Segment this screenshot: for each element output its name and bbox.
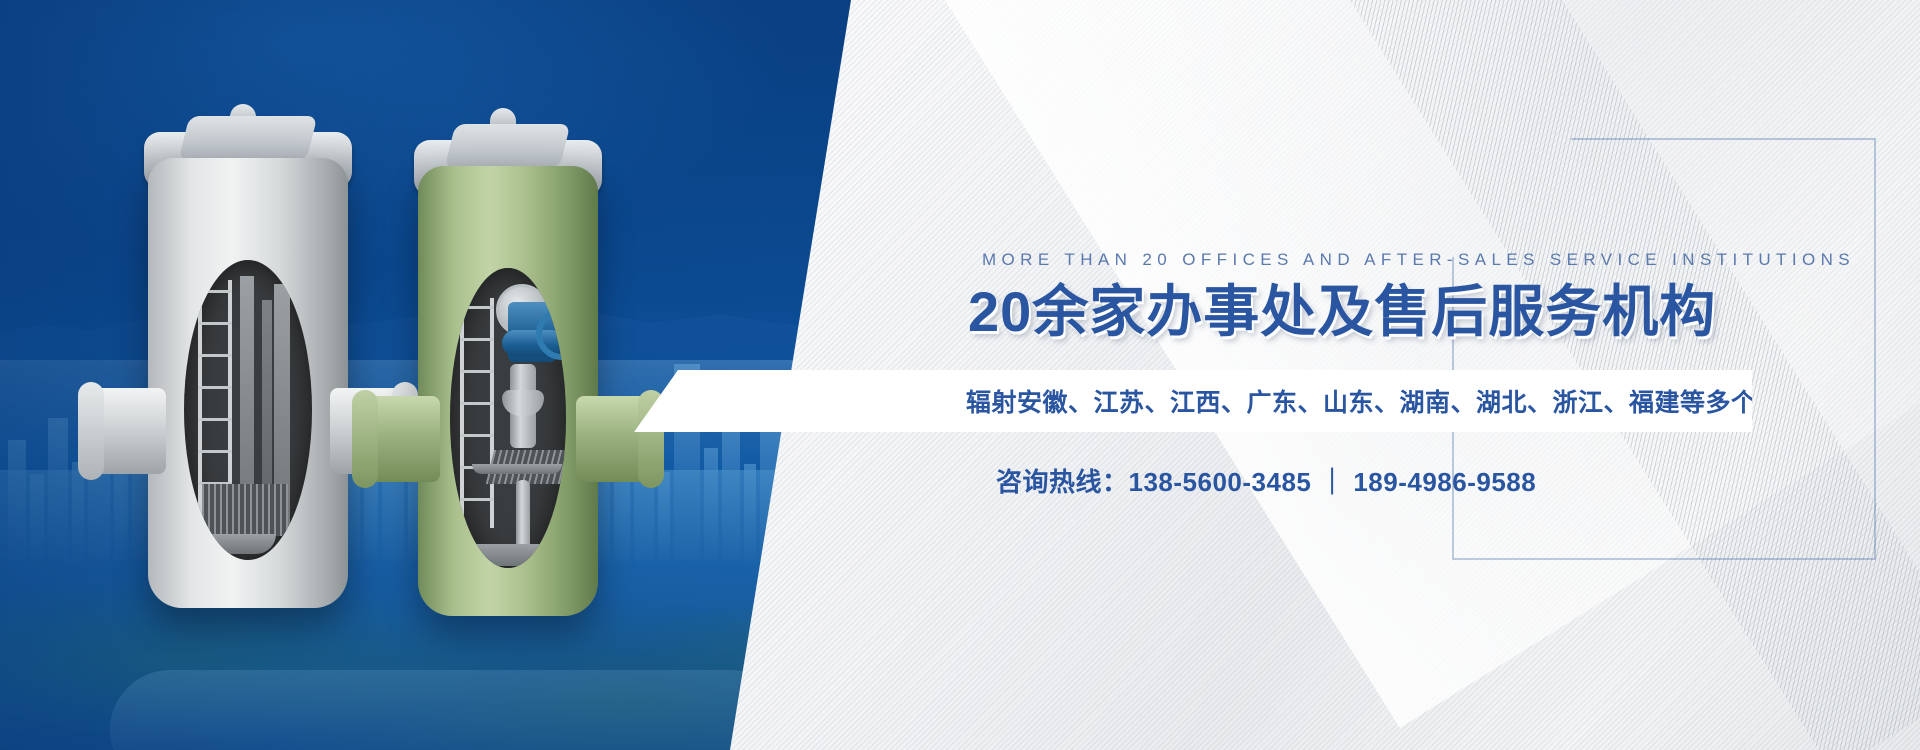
cutaway-window bbox=[184, 260, 312, 560]
province-coverage-band: 辐射安徽、江苏、江西、广东、山东、湖南、湖北、浙江、福建等多个省份 bbox=[634, 370, 1752, 432]
province-list-text: 辐射安徽、江苏、江西、广东、山东、湖南、湖北、浙江、福建等多个省份 bbox=[966, 383, 1808, 419]
banner-copy-block: MORE THAN 20 OFFICES AND AFTER-SALES SER… bbox=[968, 250, 1808, 346]
sump-base bbox=[476, 544, 556, 566]
promo-banner: MORE THAN 20 OFFICES AND AFTER-SALES SER… bbox=[0, 0, 1920, 750]
internal-grating bbox=[202, 484, 288, 536]
inlet-pipe bbox=[92, 388, 166, 474]
vessel-hatch bbox=[179, 116, 318, 160]
headline-title: 20余家办事处及售后服务机构 bbox=[968, 282, 1808, 342]
english-kicker: MORE THAN 20 OFFICES AND AFTER-SALES SER… bbox=[982, 250, 1808, 270]
grey-pump-station-vessel bbox=[148, 110, 348, 490]
inlet-pipe bbox=[366, 396, 440, 482]
pump-housing bbox=[502, 390, 544, 416]
internal-ladder bbox=[460, 298, 494, 528]
green-pump-station-vessel bbox=[418, 118, 598, 486]
vessel-hatch bbox=[445, 124, 571, 168]
platform-edge bbox=[472, 464, 562, 474]
cutaway-window bbox=[450, 268, 565, 568]
outlet-pipe bbox=[576, 396, 650, 482]
sump-base bbox=[206, 534, 276, 554]
hotline-text: 咨询热线：138-5600-3485 ｜ 189-4986-9588 bbox=[996, 462, 1536, 499]
